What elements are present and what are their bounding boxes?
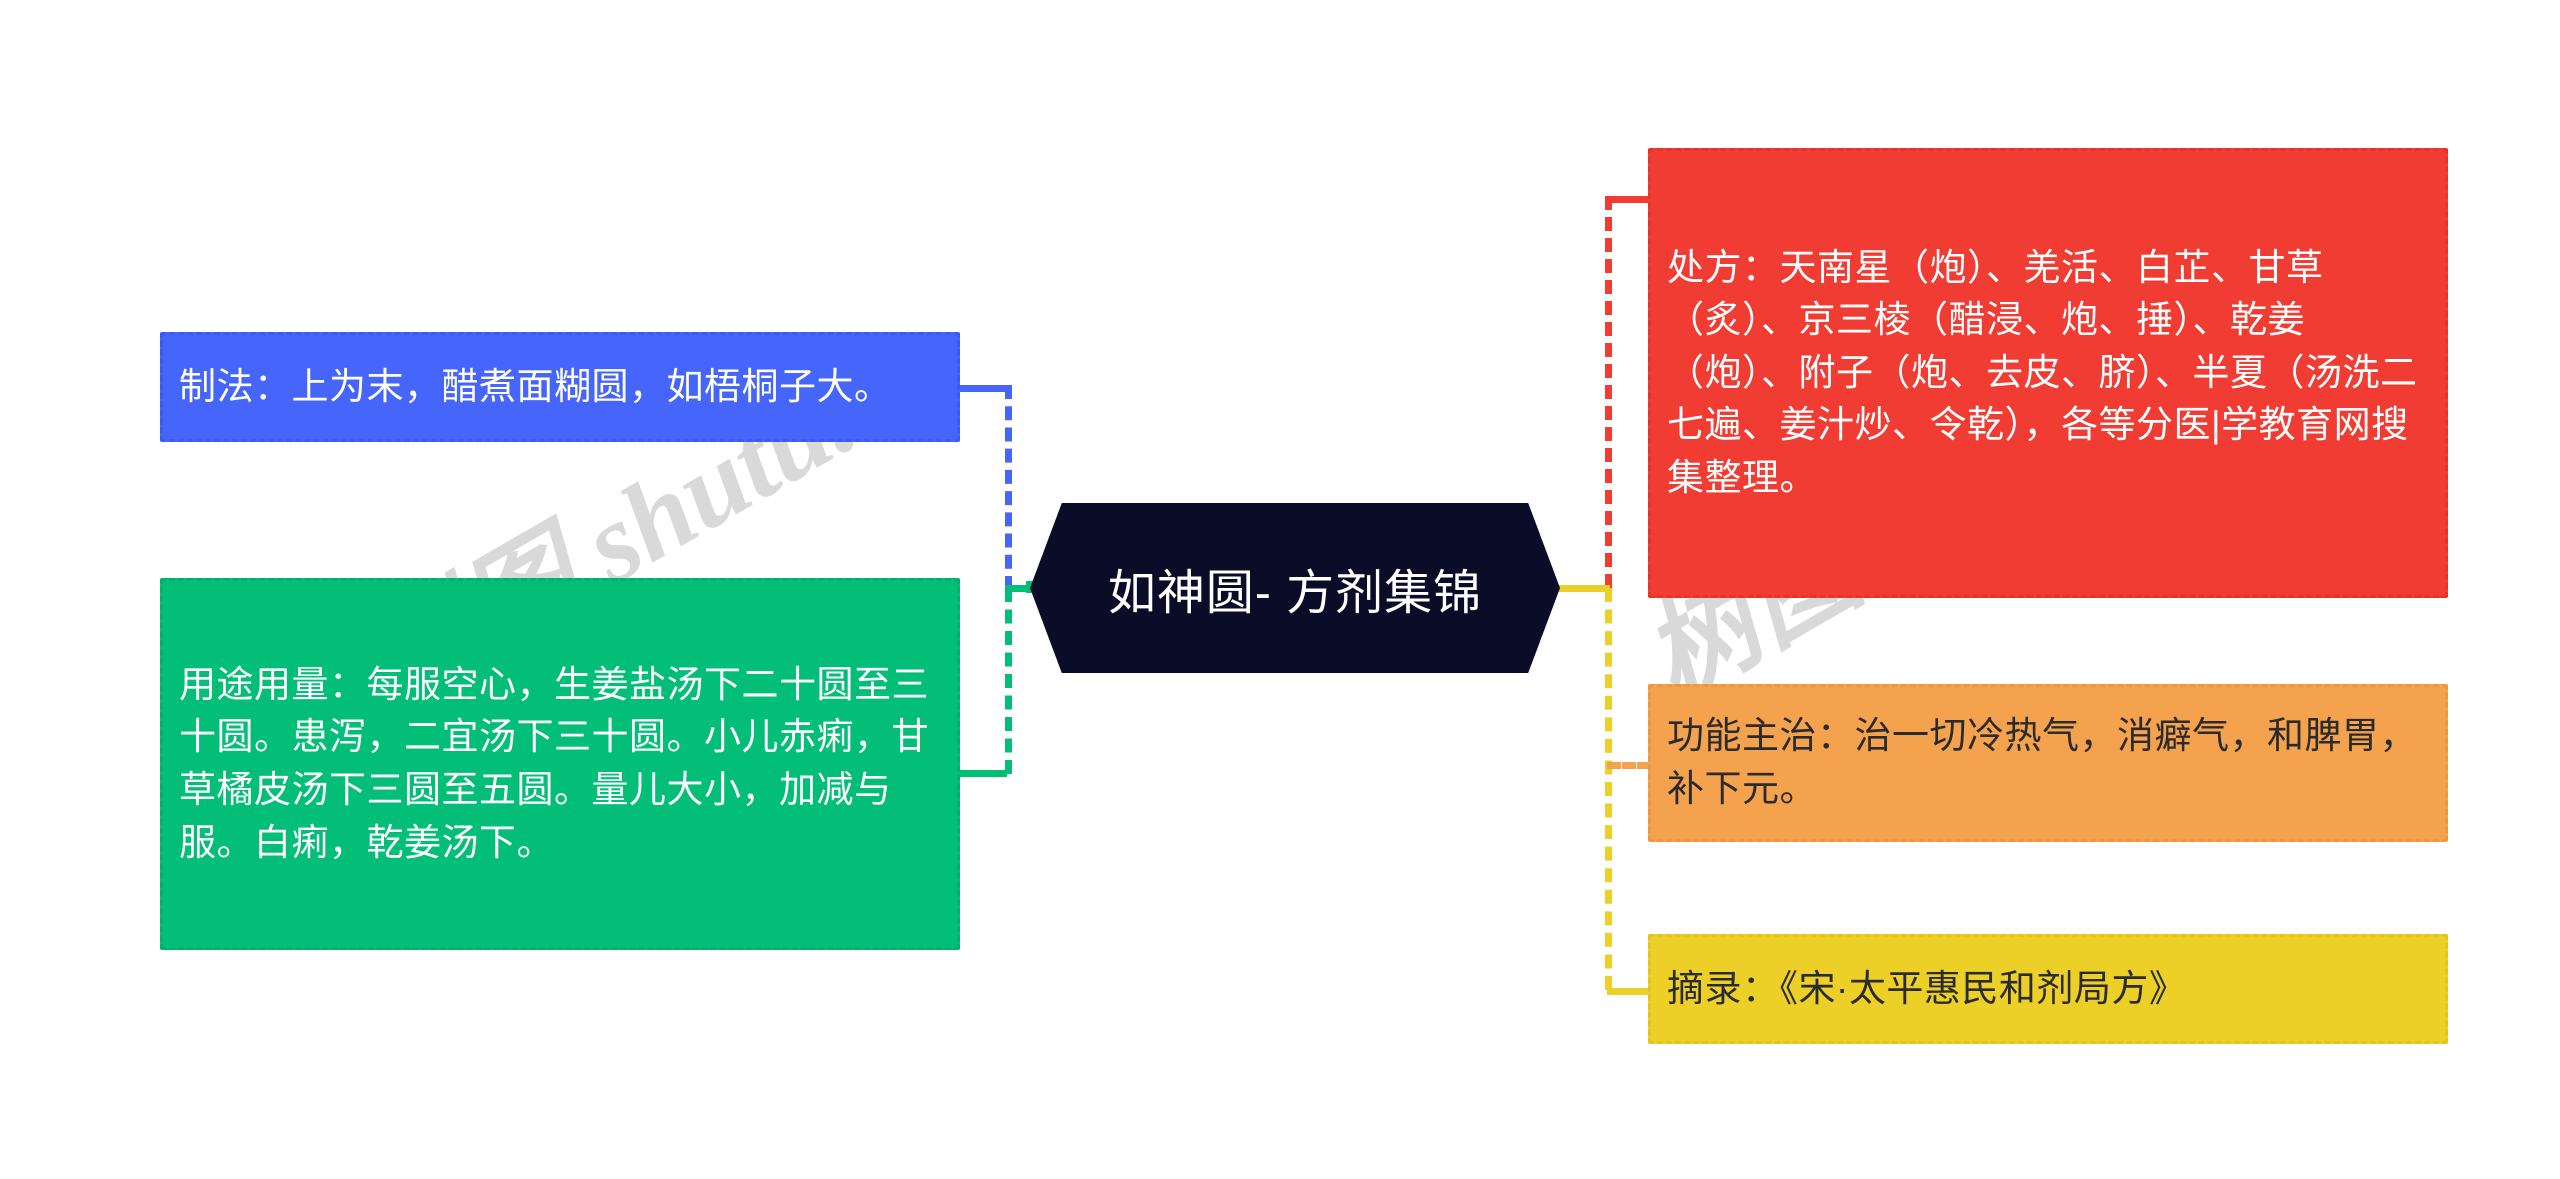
connector-stub-yongtu — [955, 770, 1007, 777]
node-center-label: 如神圆- 方剂集锦 — [1108, 553, 1482, 623]
node-gongneng-label: 功能主治：治一切冷热气，消癖气，和脾胃，补下元。 — [1651, 710, 2445, 815]
node-chufang[interactable]: 处方：天南星（炮）、羌活、白芷、甘草（炙）、京三棱（醋浸、炮、捶）、乾姜（炮）、… — [1648, 148, 2448, 598]
node-zhifa-label: 制法：上为末，醋煮面糊圆，如梧桐子大。 — [163, 361, 957, 414]
node-yongtu[interactable]: 用途用量：每服空心，生姜盐汤下二十圆至三十圆。患泻，二宜汤下三十圆。小儿赤痢，甘… — [160, 578, 960, 950]
connector-spine-zhifa — [1005, 385, 1012, 590]
connector-spine-yongtu — [1005, 588, 1012, 774]
connector-stub-zhifa — [955, 385, 1007, 392]
connector-stub-zhailu — [1607, 988, 1651, 995]
mindmap-canvas: 树图 shutu.cn 树图 shutu.cn 制法：上为末，醋煮面糊圆，如梧桐… — [0, 0, 2560, 1179]
node-chufang-label: 处方：天南星（炮）、羌活、白芷、甘草（炙）、京三棱（醋浸、炮、捶）、乾姜（炮）、… — [1651, 242, 2445, 505]
connector-spine-chufang — [1605, 196, 1612, 588]
node-gongneng[interactable]: 功能主治：治一切冷热气，消癖气，和脾胃，补下元。 — [1648, 684, 2448, 842]
connector-stub-chufang — [1607, 196, 1651, 203]
node-zhailu[interactable]: 摘录：《宋·太平惠民和剂局方》 — [1648, 934, 2448, 1044]
node-yongtu-label: 用途用量：每服空心，生姜盐汤下二十圆至三十圆。患泻，二宜汤下三十圆。小儿赤痢，甘… — [163, 659, 957, 869]
connector-stub-gongneng — [1607, 762, 1651, 769]
node-zhailu-label: 摘录：《宋·太平惠民和剂局方》 — [1651, 963, 2445, 1016]
connector-center-right — [1552, 585, 1610, 592]
node-zhifa[interactable]: 制法：上为末，醋煮面糊圆，如梧桐子大。 — [160, 332, 960, 442]
node-center-topic[interactable]: 如神圆- 方剂集锦 — [1030, 503, 1560, 673]
connector-spine-zhailu — [1605, 588, 1612, 990]
